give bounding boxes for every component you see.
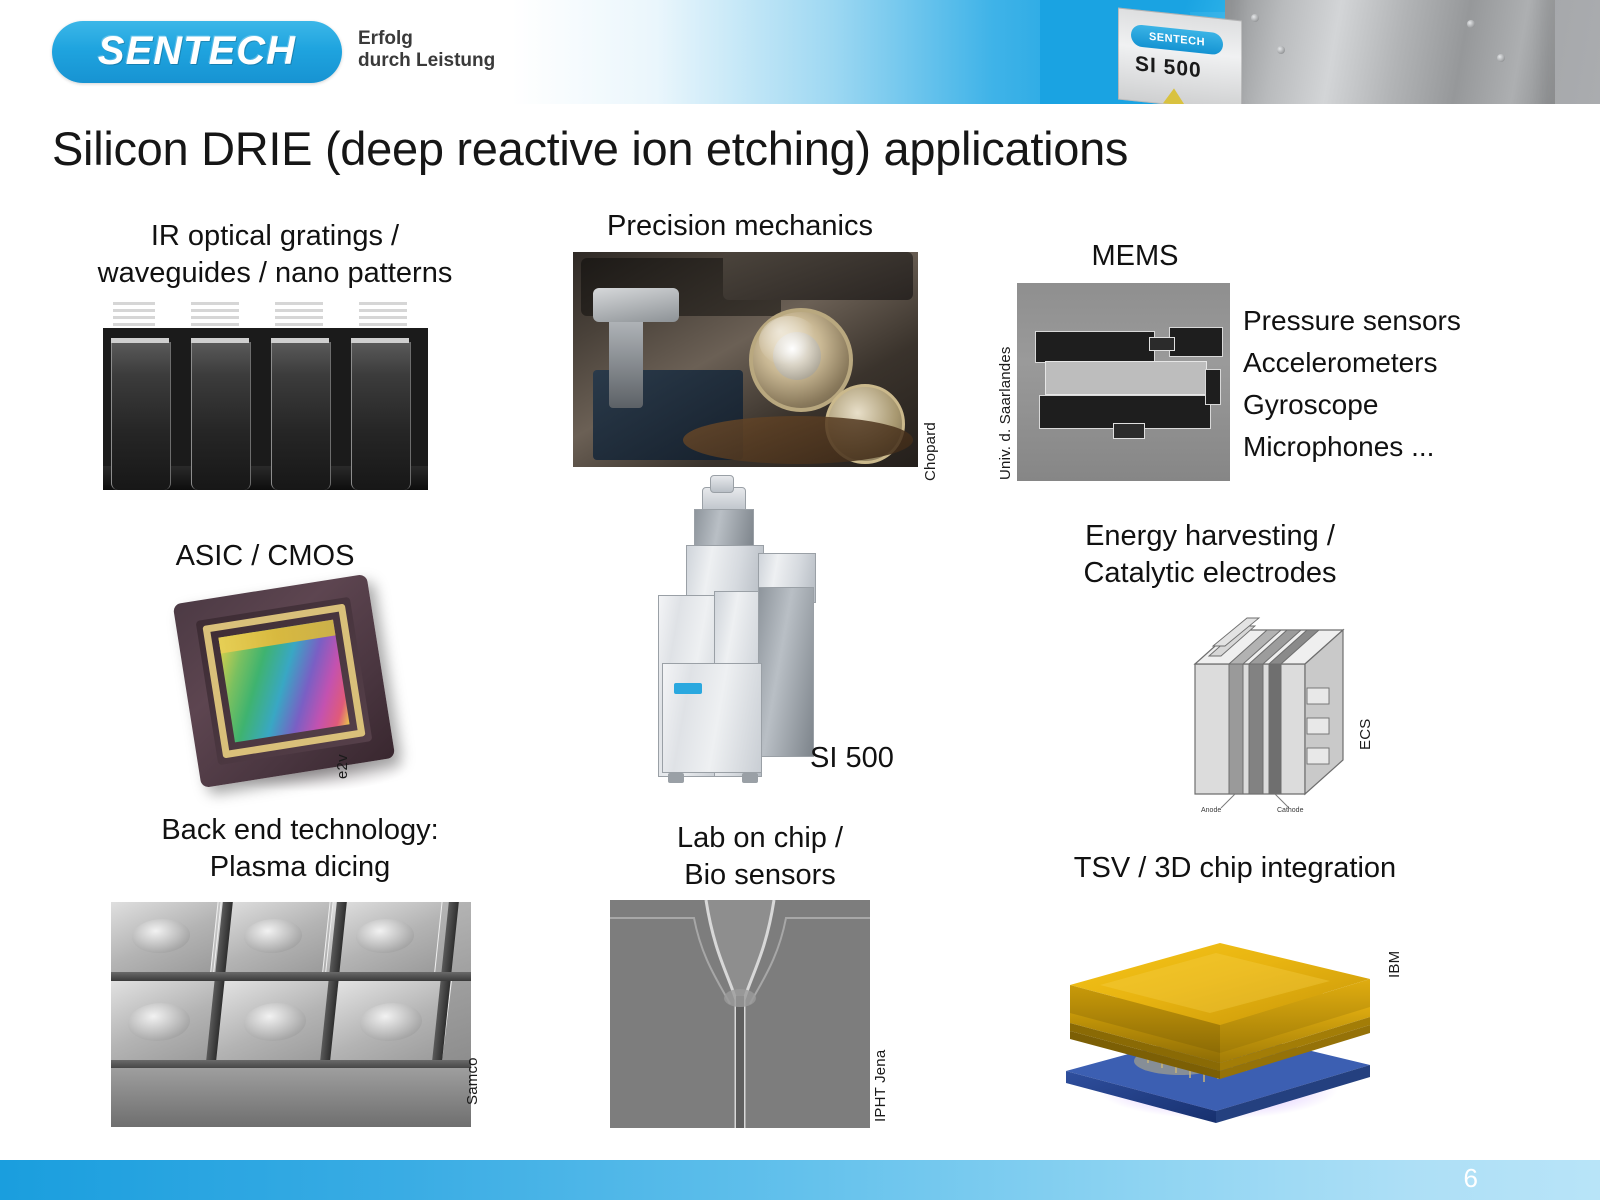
photo-plate-model-text: SI 500: [1135, 52, 1202, 83]
mems-beam-upper-right: [1169, 327, 1223, 357]
dicing-die: [212, 978, 337, 1064]
photo-bolt: [1277, 46, 1285, 54]
photo-model-plate: SENTECH SI 500: [1118, 7, 1242, 104]
caption-line-1: Back end technology:: [90, 812, 510, 849]
slide-footer-bar: [0, 1160, 1600, 1200]
caption-ir-optical-gratings: IR optical gratings / waveguides / nano …: [40, 218, 510, 292]
dicing-substrate-floor: [111, 1068, 471, 1127]
logo-tagline-line1: Erfolg: [358, 28, 495, 50]
slide-header: SENTECH SI 500 SENTECH Erfolg durch Leis…: [0, 0, 1600, 104]
credit-ipht-jena: IPHT Jena: [872, 1030, 889, 1122]
grating-cap: [351, 338, 409, 343]
watch-bridge: [723, 252, 913, 300]
image-tsv-3d-stack: [1030, 893, 1400, 1123]
image-ir-grating-sem: [103, 328, 428, 490]
caption-back-end-technology: Back end technology: Plasma dicing: [90, 812, 510, 886]
electrode-label-anode: Anode: [1201, 807, 1221, 812]
tool-front-door: [662, 663, 762, 773]
dicing-die: [111, 978, 220, 1064]
credit-ecs: ECS: [1357, 700, 1374, 750]
header-equipment-photo: SENTECH SI 500: [1040, 0, 1600, 104]
caption-line-2: Bio sensors: [600, 857, 920, 894]
nano-pattern-fins: [103, 300, 428, 330]
tsv-stack-svg: [1030, 893, 1400, 1123]
slide: SENTECH SI 500 SENTECH Erfolg durch Leis…: [0, 0, 1600, 1200]
image-mems-sem: [1017, 283, 1230, 481]
tool-vent-stack: [710, 475, 734, 493]
caption-line-2: Plasma dicing: [90, 849, 510, 886]
mems-application-list: Pressure sensors Accelerometers Gyroscop…: [1243, 300, 1573, 468]
electrode-label-cathode: Cathode: [1277, 807, 1304, 812]
tool-foot: [668, 773, 684, 783]
caption-si-500: SI 500: [810, 740, 970, 777]
image-catalytic-electrode-diagram: Anode Cathode: [1185, 612, 1370, 812]
grating-post: [351, 342, 411, 490]
sentech-logo: SENTECH: [52, 21, 342, 83]
photo-plate-logo: SENTECH: [1131, 24, 1223, 56]
caption-mems: MEMS: [1000, 238, 1270, 275]
image-asic-cmos-chip: [178, 588, 428, 803]
list-item: Gyroscope: [1243, 384, 1573, 426]
grating-post: [191, 342, 251, 490]
credit-samco: Samco: [464, 1035, 481, 1105]
caption-line-1: Lab on chip /: [600, 820, 920, 857]
microfluidic-y-junction-svg: [610, 900, 870, 1128]
caption-line-1: IR optical gratings /: [40, 218, 510, 255]
tool-right-cabinet: [758, 587, 814, 757]
list-item: Microphones ...: [1243, 426, 1573, 468]
photo-chamber-drum: [1225, 0, 1555, 104]
caption-line-1: Energy harvesting /: [1035, 518, 1385, 555]
caption-line-1: TSV / 3D chip integration: [1000, 850, 1470, 887]
caption-line-2: Catalytic electrodes: [1035, 555, 1385, 592]
caption-line-1: MEMS: [1000, 238, 1270, 275]
mems-beam-upper-left: [1035, 331, 1155, 363]
credit-e2v: e2v: [334, 735, 351, 779]
photo-bolt: [1497, 54, 1505, 62]
dicing-die: [111, 902, 219, 976]
mems-proof-mass: [1045, 361, 1207, 395]
page-number: 6: [1464, 1163, 1478, 1194]
mems-tether-lower: [1113, 423, 1145, 439]
watch-brass-ring: [683, 416, 913, 464]
tool-foot: [742, 773, 758, 783]
grating-cap: [191, 338, 249, 343]
photo-bolt: [1251, 14, 1259, 22]
mems-anchor-right: [1205, 369, 1221, 405]
grating-post: [111, 342, 171, 490]
list-item: Accelerometers: [1243, 342, 1573, 384]
photo-plate-logo-text: SENTECH: [1131, 24, 1223, 56]
caption-precision-mechanics: Precision mechanics: [540, 208, 940, 245]
grating-cap: [111, 338, 169, 343]
image-plasma-dicing-sem: [111, 902, 471, 1127]
grating-cap: [271, 338, 329, 343]
caption-line-1: Precision mechanics: [540, 208, 940, 245]
credit-ibm: IBM: [1386, 930, 1403, 978]
caption-lab-on-chip: Lab on chip / Bio sensors: [600, 820, 920, 894]
photo-plate-warning-icon: [1163, 87, 1185, 104]
mems-tether-upper: [1149, 337, 1175, 351]
photo-bolt: [1467, 20, 1475, 28]
logo-tagline-line2: durch Leistung: [358, 50, 495, 72]
list-item: Pressure sensors: [1243, 300, 1573, 342]
credit-univ-saarlandes: Univ. d. Saarlandes: [997, 315, 1014, 480]
caption-tsv-3d-chip: TSV / 3D chip integration: [1000, 850, 1470, 887]
caption-asic-cmos: ASIC / CMOS: [60, 538, 470, 575]
chip-package: [173, 574, 396, 788]
tool-logo-badge: [674, 683, 702, 694]
image-precision-mechanics-photo: [573, 252, 918, 467]
caption-energy-harvesting: Energy harvesting / Catalytic electrodes: [1035, 518, 1385, 592]
electrode-svg: Anode Cathode: [1185, 612, 1370, 812]
watch-cylinder: [593, 288, 679, 322]
logo-tagline: Erfolg durch Leistung: [358, 28, 495, 72]
watch-post: [609, 312, 643, 408]
credit-chopard: Chopard: [922, 381, 939, 481]
watch-highlight: [759, 316, 819, 366]
slide-title: Silicon DRIE (deep reactive ion etching)…: [52, 121, 1452, 176]
dicing-street-horizontal: [111, 972, 471, 981]
caption-line-2: waveguides / nano patterns: [40, 255, 510, 292]
caption-line-1: SI 500: [810, 740, 970, 777]
logo-wordmark: SENTECH: [52, 21, 342, 83]
caption-line-1: ASIC / CMOS: [60, 538, 470, 575]
grating-post: [271, 342, 331, 490]
image-lab-on-chip-sem: [610, 900, 870, 1128]
